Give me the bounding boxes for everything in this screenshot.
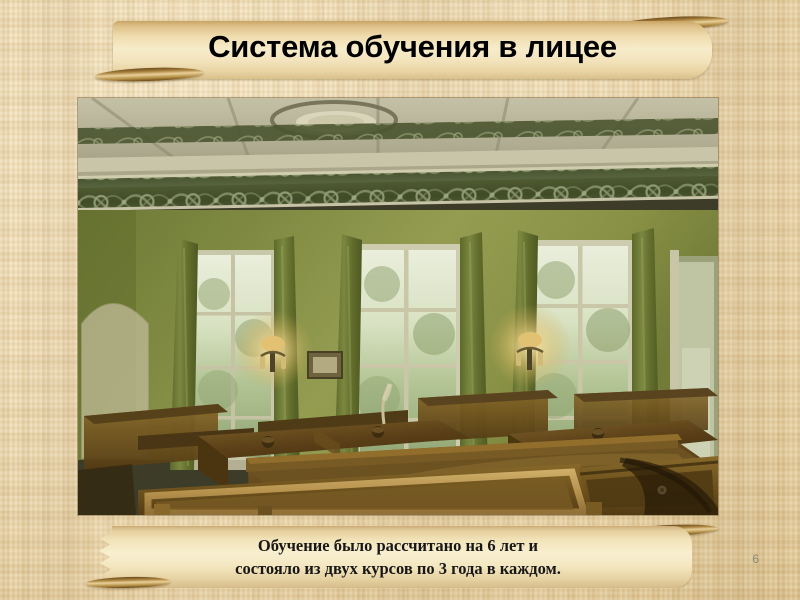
caption-line-1: Обучение было рассчитано на 6 лет и xyxy=(128,534,668,557)
slide-number: 6 xyxy=(752,552,759,566)
lyceum-classroom-photo xyxy=(78,98,718,515)
caption-text-block: Обучение было рассчитано на 6 лет и сост… xyxy=(128,534,668,580)
classroom-illustration xyxy=(78,98,718,515)
caption-line-2: состояло из двух курсов по 3 года в кажд… xyxy=(128,557,668,580)
scroll-curl-left-icon xyxy=(95,66,203,83)
slide-title: Система обучения в лицее xyxy=(95,27,730,67)
presentation-slide: Система обучения в лицее xyxy=(0,0,800,600)
title-scroll-banner: Система обучения в лицее xyxy=(95,15,730,83)
caption-scroll-banner: Обучение было рассчитано на 6 лет и сост… xyxy=(88,521,718,593)
